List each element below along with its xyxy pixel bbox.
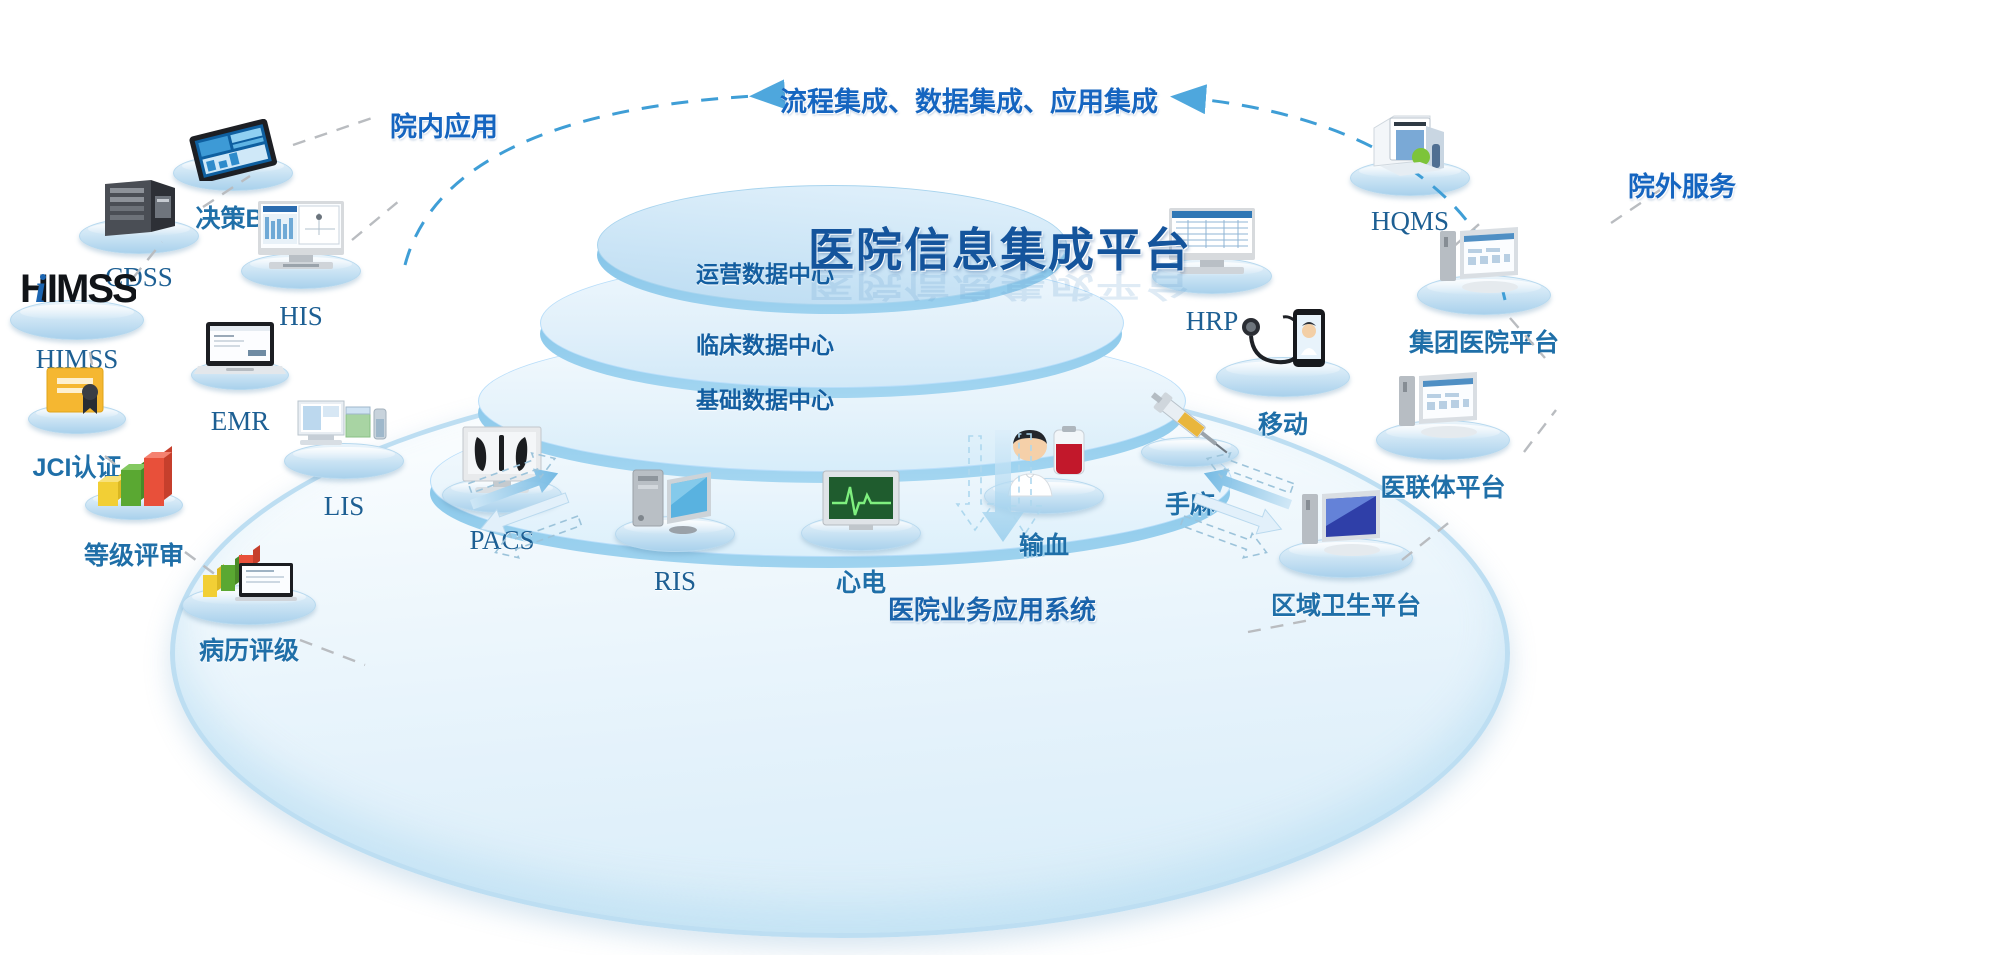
layer-label-foundation: 基础数据中心 bbox=[696, 381, 834, 415]
diagram-canvas: 医院信息集成平台 医院信息集成平台 运营数据中心 临床数据中心 基础数据中心 医… bbox=[0, 0, 2000, 955]
node-pedestal bbox=[442, 477, 562, 513]
node-pedestal bbox=[28, 404, 126, 434]
node-label-himss: HIMSS bbox=[36, 344, 119, 375]
node-pedestal bbox=[615, 516, 735, 552]
node-label-lis: LIS bbox=[324, 491, 365, 522]
node-pedestal bbox=[284, 443, 404, 479]
node-pedestal bbox=[191, 360, 289, 390]
node-pedestal bbox=[801, 515, 921, 551]
layer-label-clinical: 临床数据中心 bbox=[696, 326, 834, 360]
node-pedestal bbox=[10, 300, 144, 340]
his-link bbox=[352, 196, 405, 240]
node-label-surgery: 手麻 bbox=[1165, 485, 1215, 521]
node-pedestal bbox=[984, 478, 1104, 514]
integration-banner: 流程集成、数据集成、应用集成 bbox=[780, 80, 1158, 119]
node-label-record: 病历评级 bbox=[199, 631, 299, 667]
node-pedestal bbox=[1216, 357, 1350, 397]
node-pedestal bbox=[1279, 538, 1413, 578]
node-pedestal bbox=[182, 585, 316, 625]
node-label-hrp: HRP bbox=[1186, 306, 1239, 337]
node-pedestal bbox=[85, 490, 183, 520]
node-label-bi: 决策BI bbox=[195, 199, 270, 235]
node-label-alliance: 医联体平台 bbox=[1380, 468, 1505, 504]
node-pedestal bbox=[79, 218, 199, 254]
node-pedestal bbox=[241, 253, 361, 289]
section-head-external: 院外服务 bbox=[1628, 165, 1736, 204]
node-label-ris: RIS bbox=[654, 566, 696, 597]
platform-title: 医院信息集成平台 bbox=[808, 214, 1192, 280]
section-head-internal: 院内应用 bbox=[390, 105, 498, 144]
node-pedestal bbox=[1376, 420, 1510, 460]
node-pedestal bbox=[1141, 437, 1239, 467]
node-label-jci: JCI认证 bbox=[33, 448, 122, 484]
node-label-blood: 输血 bbox=[1019, 526, 1069, 562]
node-label-his: HIS bbox=[279, 301, 323, 332]
node-label-emr: EMR bbox=[211, 406, 270, 437]
node-pedestal bbox=[1417, 275, 1551, 315]
node-label-pacs: PACS bbox=[469, 525, 534, 556]
node-pedestal bbox=[173, 155, 293, 191]
node-label-cdss: CDSS bbox=[105, 262, 173, 293]
node-pedestal bbox=[1350, 160, 1470, 196]
node-label-group: 集团医院平台 bbox=[1409, 323, 1559, 359]
node-label-grade: 等级评审 bbox=[84, 536, 184, 572]
node-label-ecg: 心电 bbox=[836, 563, 886, 599]
business-systems-label: 医院业务应用系统 bbox=[888, 590, 1096, 627]
node-label-mobile: 移动 bbox=[1258, 405, 1308, 441]
node-label-hqms: HQMS bbox=[1371, 206, 1449, 237]
node-label-regional: 区域卫生平台 bbox=[1271, 586, 1421, 622]
